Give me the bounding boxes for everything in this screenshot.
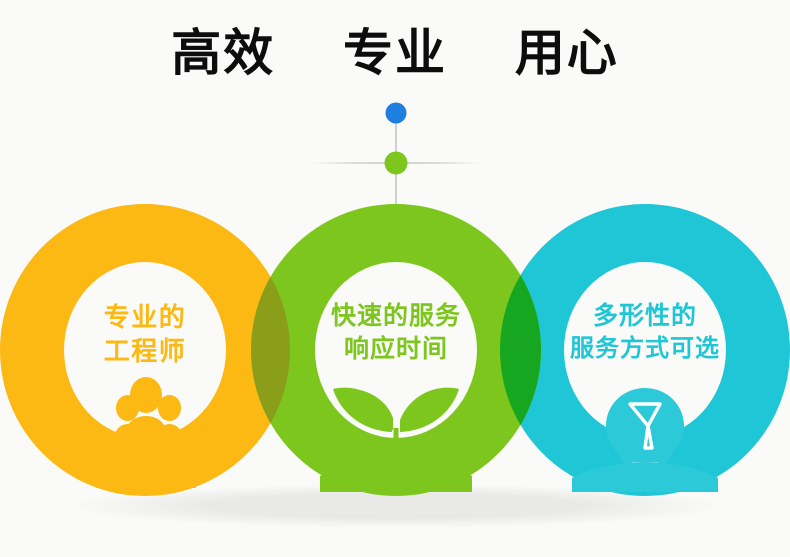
caption-line: 服务方式可选 <box>533 333 757 365</box>
caption-line: 快速的服务 <box>291 300 501 333</box>
caption-line: 响应时间 <box>291 333 501 366</box>
caption-line: 多形性的 <box>533 300 757 333</box>
ring-caption-response: 快速的服务 响应时间 <box>291 300 501 366</box>
infographic-stage: 高效 专业 用心 <box>0 0 790 557</box>
ring-caption-engineers: 专业的 工程师 <box>45 300 245 369</box>
venn-rings-graphic <box>0 0 790 557</box>
caption-line: 专业的 <box>45 300 245 334</box>
caption-line: 工程师 <box>45 334 245 368</box>
ring-caption-flexible: 多形性的 服务方式可选 <box>533 300 757 365</box>
